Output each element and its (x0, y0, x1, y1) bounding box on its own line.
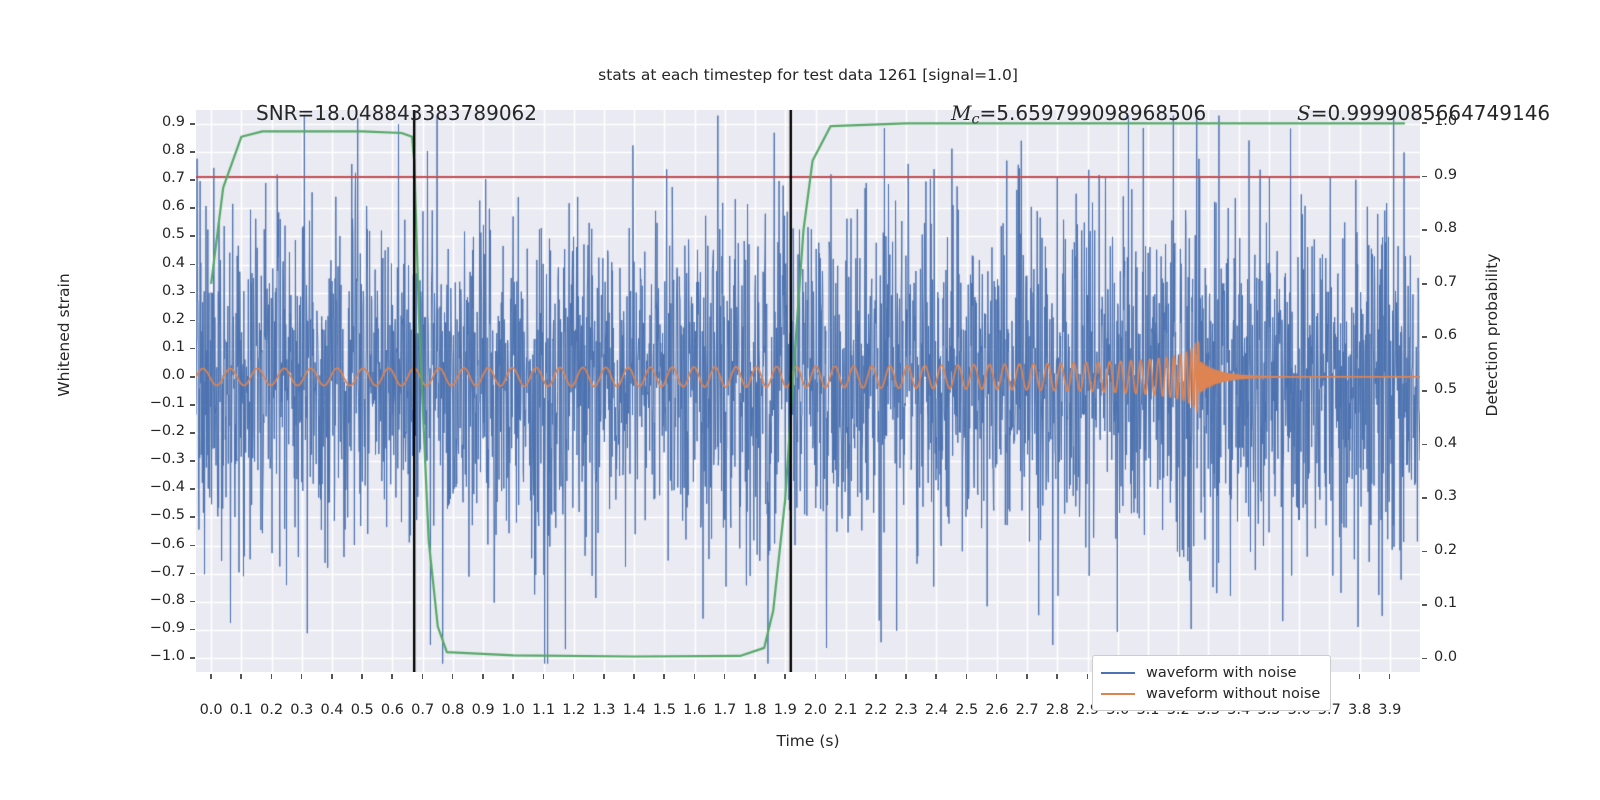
y-tick-mark-left (190, 320, 195, 322)
x-tick-mark (1087, 674, 1089, 679)
matplotlib-figure: stats at each timestep for test data 126… (0, 0, 1600, 800)
x-tick-mark (482, 674, 484, 679)
y-tick-mark-left (190, 207, 195, 209)
y-tick-mark-left (190, 601, 195, 603)
x-tick-mark (361, 674, 363, 679)
y-tick-label-right: 0.6 (1434, 327, 1457, 343)
x-tick-mark (996, 674, 998, 679)
x-tick-mark (754, 674, 756, 679)
x-tick-mark (845, 674, 847, 679)
y-tick-label-left: 0.4 (162, 255, 185, 271)
y-tick-label-left: −0.8 (150, 592, 185, 608)
y-tick-mark-left (190, 460, 195, 462)
x-tick-mark (1056, 674, 1058, 679)
y-tick-label-right: 0.0 (1434, 649, 1457, 665)
x-tick-mark (512, 674, 514, 679)
y-tick-mark-right (1422, 551, 1427, 553)
x-tick-mark (1389, 674, 1391, 679)
y-tick-label-right: 0.1 (1434, 595, 1457, 611)
y-tick-mark-left (190, 404, 195, 406)
y-tick-label-left: 0.5 (162, 226, 185, 242)
x-tick-mark (240, 674, 242, 679)
annotation-score: S=0.9999085664749146 (1297, 101, 1550, 125)
annotation-value: =5.659799098968506 (980, 101, 1207, 125)
y-tick-label-left: −0.6 (150, 536, 185, 552)
x-tick-mark (603, 674, 605, 679)
y-tick-label-right: 0.5 (1434, 381, 1457, 397)
y-tick-label-left: 0.2 (162, 311, 185, 327)
y-tick-label-left: 0.8 (162, 142, 185, 158)
y-tick-label-left: −0.1 (150, 395, 185, 411)
x-tick-mark (331, 674, 333, 679)
x-tick-mark (663, 674, 665, 679)
x-tick-mark (905, 674, 907, 679)
y-tick-mark-right (1422, 390, 1427, 392)
x-tick-mark (935, 674, 937, 679)
page-title: stats at each timestep for test data 126… (196, 66, 1420, 84)
y-tick-mark-left (190, 545, 195, 547)
y-tick-label-left: 0.6 (162, 198, 185, 214)
y-tick-label-left: −0.4 (150, 479, 185, 495)
y-tick-label-right: 0.4 (1434, 435, 1457, 451)
y-tick-mark-left (190, 123, 195, 125)
y-tick-label-left: 0.3 (162, 283, 185, 299)
y-tick-label-left: 0.0 (162, 367, 185, 383)
y-tick-label-right: 0.3 (1434, 488, 1457, 504)
legend-label: waveform without noise (1146, 686, 1320, 702)
y-tick-mark-right (1422, 336, 1427, 338)
x-tick-label: 3.9 (1360, 702, 1420, 718)
legend: waveform with noisewaveform without nois… (1092, 655, 1331, 711)
plot-area (196, 110, 1420, 672)
y-tick-mark-left (190, 376, 195, 378)
y-tick-label-left: −0.5 (150, 507, 185, 523)
math-variable: S (1297, 101, 1311, 125)
y-tick-mark-left (190, 488, 195, 490)
y-tick-label-left: −0.9 (150, 620, 185, 636)
y-tick-mark-left (190, 151, 195, 153)
y-axis-label-left: Whitened strain (55, 205, 73, 465)
y-tick-mark-left (190, 432, 195, 434)
y-tick-label-left: 0.7 (162, 170, 185, 186)
math-variable: M (951, 101, 971, 125)
y-tick-mark-left (190, 573, 195, 575)
y-tick-mark-right (1422, 283, 1427, 285)
y-tick-mark-left (190, 629, 195, 631)
y-tick-mark-right (1422, 497, 1427, 499)
y-tick-label-left: −1.0 (150, 648, 185, 664)
y-tick-mark-right (1422, 176, 1427, 178)
x-tick-mark (724, 674, 726, 679)
y-tick-label-right: 0.7 (1434, 274, 1457, 290)
y-tick-label-left: −0.7 (150, 564, 185, 580)
x-tick-mark (422, 674, 424, 679)
x-tick-mark (301, 674, 303, 679)
y-tick-label-left: −0.3 (150, 451, 185, 467)
math-subscript: c (971, 112, 979, 128)
x-tick-mark (573, 674, 575, 679)
y-tick-label-right: 0.8 (1434, 220, 1457, 236)
y-tick-mark-right (1422, 444, 1427, 446)
legend-label: waveform with noise (1146, 665, 1297, 681)
x-tick-mark (1026, 674, 1028, 679)
y-tick-mark-right (1422, 658, 1427, 660)
annotation-snr: SNR=18.048843383789062 (256, 101, 537, 125)
y-tick-mark-right (1422, 229, 1427, 231)
y-tick-mark-left (190, 179, 195, 181)
x-tick-mark (543, 674, 545, 679)
x-tick-mark (271, 674, 273, 679)
x-tick-mark (966, 674, 968, 679)
legend-swatch-icon (1101, 672, 1135, 674)
x-tick-mark (633, 674, 635, 679)
x-tick-mark (210, 674, 212, 679)
x-tick-mark (391, 674, 393, 679)
chart-canvas (196, 110, 1420, 672)
annotation-value: =0.9999085664749146 (1311, 101, 1550, 125)
y-tick-label-left: −0.2 (150, 423, 185, 439)
legend-swatch-icon (1101, 693, 1135, 695)
y-tick-mark-left (190, 235, 195, 237)
x-axis-label: Time (s) (196, 732, 1420, 750)
y-axis-label-right: Detection probability (1483, 205, 1501, 465)
y-tick-label-left: 0.9 (162, 114, 185, 130)
annotation-chirp-mass: Mc=5.659799098968506 (951, 101, 1206, 128)
y-tick-label-right: 0.2 (1434, 542, 1457, 558)
x-tick-mark (1359, 674, 1361, 679)
x-tick-mark (815, 674, 817, 679)
y-tick-label-left: 0.1 (162, 339, 185, 355)
x-tick-mark (452, 674, 454, 679)
y-tick-mark-right (1422, 604, 1427, 606)
legend-item: waveform with noise (1101, 662, 1320, 683)
y-tick-mark-left (190, 264, 195, 266)
y-tick-mark-left (190, 348, 195, 350)
y-tick-label-right: 0.9 (1434, 167, 1457, 183)
legend-item: waveform without noise (1101, 683, 1320, 704)
x-tick-mark (875, 674, 877, 679)
y-tick-mark-left (190, 516, 195, 518)
y-tick-mark-left (190, 292, 195, 294)
y-tick-mark-left (190, 657, 195, 659)
x-tick-mark (694, 674, 696, 679)
x-tick-mark (784, 674, 786, 679)
